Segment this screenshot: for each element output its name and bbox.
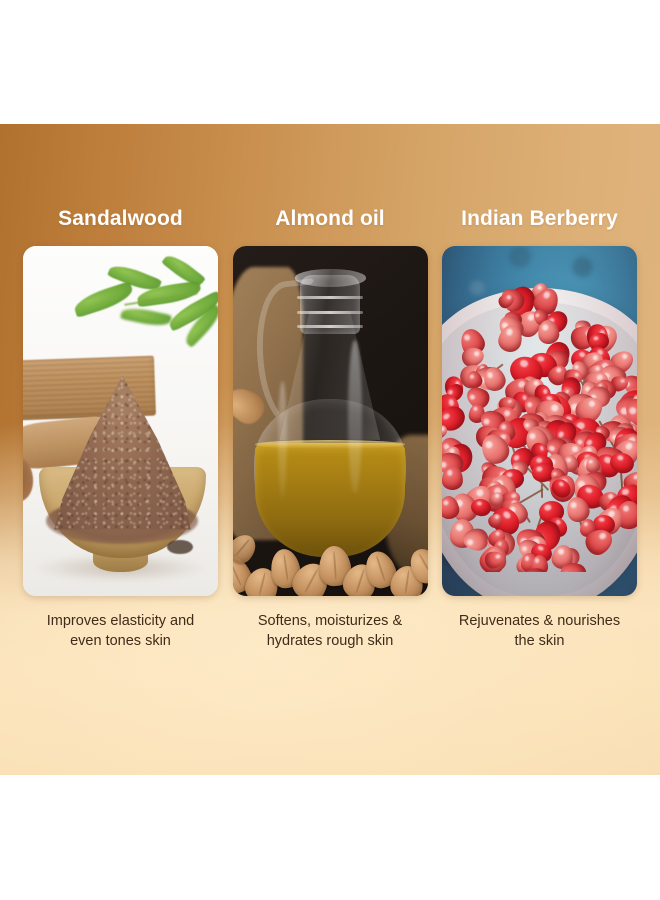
glass-carafe — [254, 264, 406, 558]
infographic-canvas: Sandalwood — [0, 0, 660, 900]
almond-oil-photo — [233, 246, 428, 596]
ingredient-benefit-almond-oil: Softens, moisturizes & hydrates rough sk… — [240, 612, 420, 651]
berry-pile — [442, 271, 637, 572]
ingredient-column-sandalwood: Sandalwood — [23, 124, 218, 775]
indian-berberry-photo — [442, 246, 637, 596]
ingredient-title-indian-berberry: Indian Berberry — [461, 208, 618, 229]
sandalwood-photo — [23, 246, 218, 596]
berry — [463, 528, 489, 551]
almond-icon — [233, 529, 262, 567]
ingredient-column-almond-oil: Almond oil — [233, 124, 428, 775]
ingredient-columns: Sandalwood — [23, 124, 637, 775]
leaf-icon — [120, 305, 172, 329]
ingredient-column-indian-berberry: Indian Berberry Rejuvenates & nourishes … — [442, 124, 637, 775]
almond-pile — [233, 519, 428, 596]
carafe-ring — [297, 325, 364, 328]
carafe-ring — [297, 311, 364, 314]
carafe-ring — [297, 296, 364, 299]
carafe-lip — [295, 269, 366, 287]
ingredient-benefit-sandalwood: Improves elasticity and even tones skin — [31, 612, 211, 651]
ingredients-panel: Sandalwood — [0, 124, 660, 775]
glass-highlight — [348, 340, 362, 493]
bowl-marking — [167, 540, 192, 554]
ingredient-title-sandalwood: Sandalwood — [58, 208, 183, 229]
ingredient-card-almond-oil[interactable] — [233, 246, 428, 596]
ingredient-card-sandalwood[interactable] — [23, 246, 218, 596]
ingredient-card-indian-berberry[interactable] — [442, 246, 637, 596]
ingredient-benefit-indian-berberry: Rejuvenates & nourishes the skin — [450, 612, 630, 651]
ingredient-title-almond-oil: Almond oil — [275, 208, 385, 229]
